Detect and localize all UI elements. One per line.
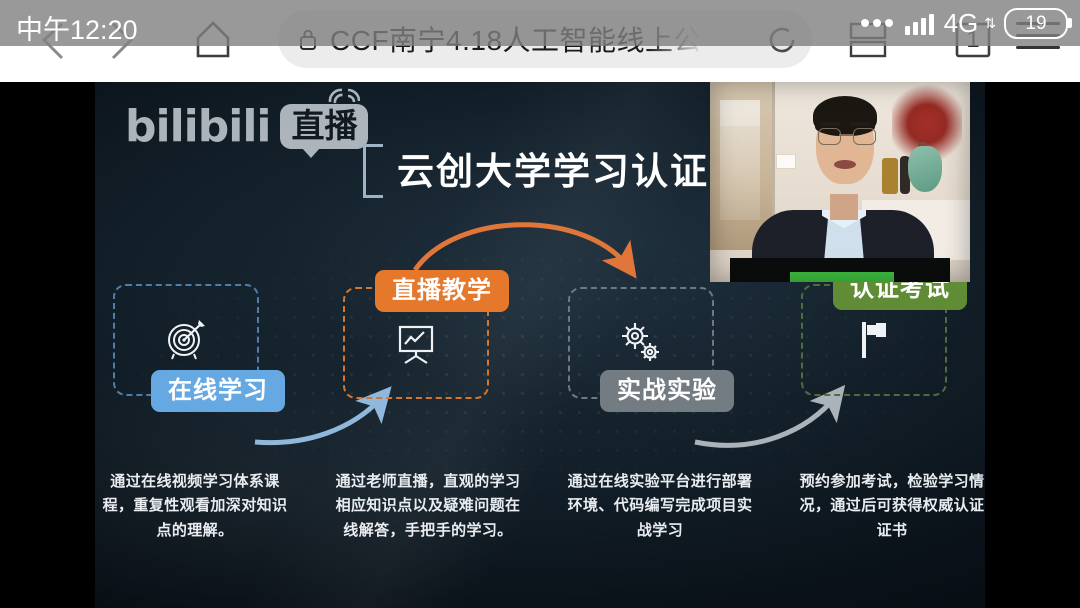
step-label-online-learning[interactable]: 在线学习 bbox=[151, 370, 285, 412]
battery-level: 19 bbox=[1025, 14, 1046, 33]
data-transfer-icon: ⇅ bbox=[984, 15, 996, 32]
wifi-waves-icon bbox=[326, 84, 360, 106]
gears-icon bbox=[570, 317, 712, 367]
step-caption-practical-lab: 通过在线实验平台进行部署环境、代码编写完成项目实战学习 bbox=[565, 470, 755, 543]
battery-icon: 19 bbox=[1004, 8, 1068, 39]
flag-icon bbox=[803, 314, 945, 364]
screen: CCF南宁4.18人工智能线上公… 1 中午12:20 bbox=[0, 0, 1080, 608]
pip-vignette bbox=[710, 82, 970, 282]
menu-line bbox=[1016, 46, 1060, 49]
step-caption-live-teaching: 通过老师直播，直观的学习相应知识点以及疑难问题在线解答，手把手的学习。 bbox=[333, 470, 523, 543]
step-caption-certification-exam: 预约参加考试，检验学习情况，通过后可获得权威认证证书 bbox=[797, 470, 985, 543]
status-indicators: 4G ⇅ 19 bbox=[861, 0, 1068, 46]
step-label-live-teaching[interactable]: 直播教学 bbox=[375, 270, 509, 312]
live-badge-text: 直播 bbox=[291, 107, 357, 144]
bracket-left-decoration bbox=[363, 144, 383, 198]
speaker-webcam-pip[interactable] bbox=[710, 82, 970, 282]
target-icon bbox=[115, 314, 257, 364]
dots-icon bbox=[861, 15, 897, 31]
bilibili-live-watermark: bilibili 直播 bbox=[125, 104, 368, 149]
status-clock: 中午12:20 bbox=[16, 8, 138, 47]
step-label-practical-lab[interactable]: 实战实验 bbox=[600, 370, 734, 412]
status-bar: 中午12:20 4G ⇅ 19 bbox=[0, 0, 1080, 46]
bilibili-logo: bilibili bbox=[125, 105, 270, 149]
step-caption-online-learning: 通过在线视频学习体系课程，重复性观看加深对知识点的理解。 bbox=[100, 470, 290, 543]
network-type-label: 4G bbox=[944, 8, 979, 39]
live-badge: 直播 bbox=[280, 104, 368, 149]
presentation-chart-icon bbox=[345, 317, 487, 367]
signal-bars-icon bbox=[905, 11, 934, 35]
video-player[interactable]: bilibili 直播 云创大学学习认证平台 bbox=[0, 82, 1080, 608]
